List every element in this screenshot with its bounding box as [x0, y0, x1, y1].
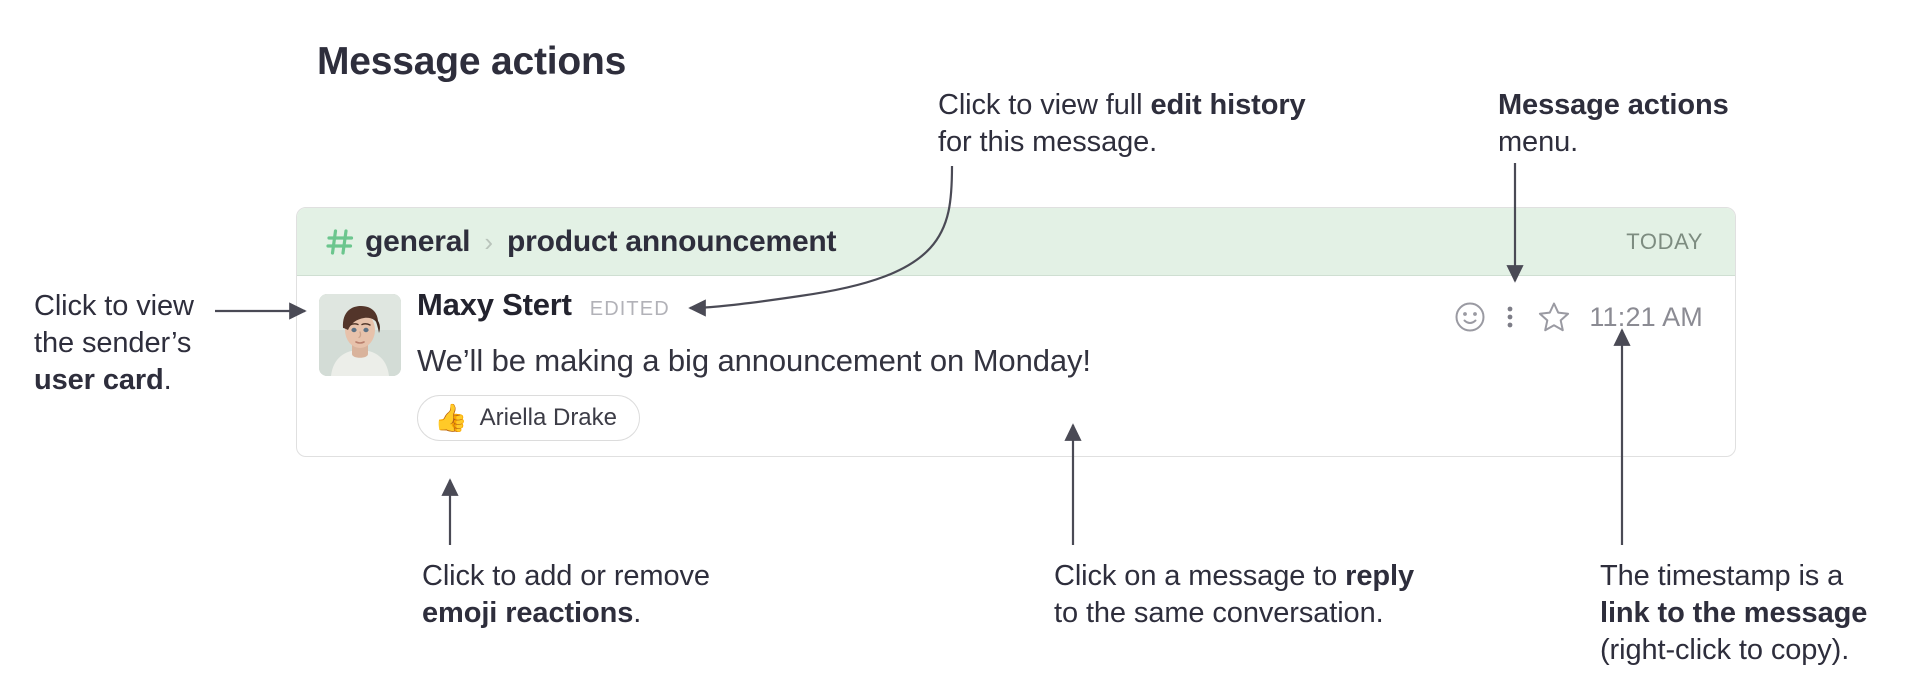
hash-icon [325, 227, 355, 257]
annotation-user-card-line3-bold: user card [34, 364, 164, 396]
annotation-actions-menu-line2: menu. [1498, 126, 1578, 158]
avatar[interactable] [319, 294, 401, 376]
channel-header: general › product announcement TODAY [297, 208, 1735, 276]
annotation-emoji-reactions: Click to add or remove emoji reactions. [422, 558, 782, 632]
annotation-edit-history: Click to view full edit history for this… [938, 87, 1358, 161]
annotation-reply-bold: reply [1345, 560, 1414, 592]
date-label: TODAY [1626, 229, 1703, 255]
breadcrumb-separator-icon: › [484, 229, 493, 255]
topic-name[interactable]: product announcement [507, 225, 836, 259]
message-actions-menu-icon[interactable] [1499, 300, 1521, 334]
star-icon[interactable] [1535, 298, 1573, 336]
annotation-emoji-reactions-line1: Click to add or remove [422, 560, 710, 592]
annotation-user-card: Click to view the sender’s user card. [34, 288, 284, 399]
sender-name[interactable]: Maxy Stert [417, 287, 572, 323]
annotation-edit-history-line2: for this message. [938, 126, 1157, 158]
annotation-reply-line2: to the same conversation. [1054, 597, 1384, 629]
emoji-reaction-icon[interactable] [1453, 300, 1487, 334]
annotation-emoji-reactions-tail: . [633, 597, 641, 629]
channel-name[interactable]: general [365, 225, 470, 259]
annotation-user-card-line2: the sender’s [34, 327, 191, 359]
edited-badge[interactable]: EDITED [590, 298, 670, 321]
annotation-reply-lead: Click on a message to [1054, 560, 1345, 592]
reaction-label: Ariella Drake [480, 404, 617, 432]
annotation-user-card-line1: Click to view [34, 290, 194, 322]
annotation-actions-menu-bold: Message actions [1498, 89, 1729, 121]
annotation-reply: Click on a message to reply to the same … [1054, 558, 1454, 632]
message-card: general › product announcement TODAY [296, 207, 1736, 457]
message-text[interactable]: We’ll be making a big announcement on Mo… [417, 343, 1703, 379]
message-row[interactable]: Maxy Stert EDITED We’ll be making a big … [297, 277, 1735, 456]
annotation-edit-history-bold: edit history [1150, 89, 1305, 121]
annotation-timestamp-bold: link to the message [1600, 597, 1867, 629]
annotation-actions-menu: Message actions menu. [1498, 87, 1798, 161]
annotation-timestamp-line1: The timestamp is a [1600, 560, 1843, 592]
page-title: Message actions [317, 40, 626, 84]
annotation-timestamp-line3: (right-click to copy). [1600, 634, 1849, 666]
annotation-edit-history-lead: Click to view full [938, 89, 1150, 121]
message-timestamp[interactable]: 11:21 AM [1589, 302, 1703, 333]
annotation-timestamp: The timestamp is a link to the message (… [1600, 558, 1910, 669]
message-actions: 11:21 AM [1453, 295, 1703, 339]
annotation-user-card-line3-tail: . [164, 364, 172, 396]
reaction-pill[interactable]: 👍 Ariella Drake [417, 395, 640, 441]
annotation-emoji-reactions-bold: emoji reactions [422, 597, 633, 629]
thumbs-up-emoji: 👍 [434, 405, 468, 432]
